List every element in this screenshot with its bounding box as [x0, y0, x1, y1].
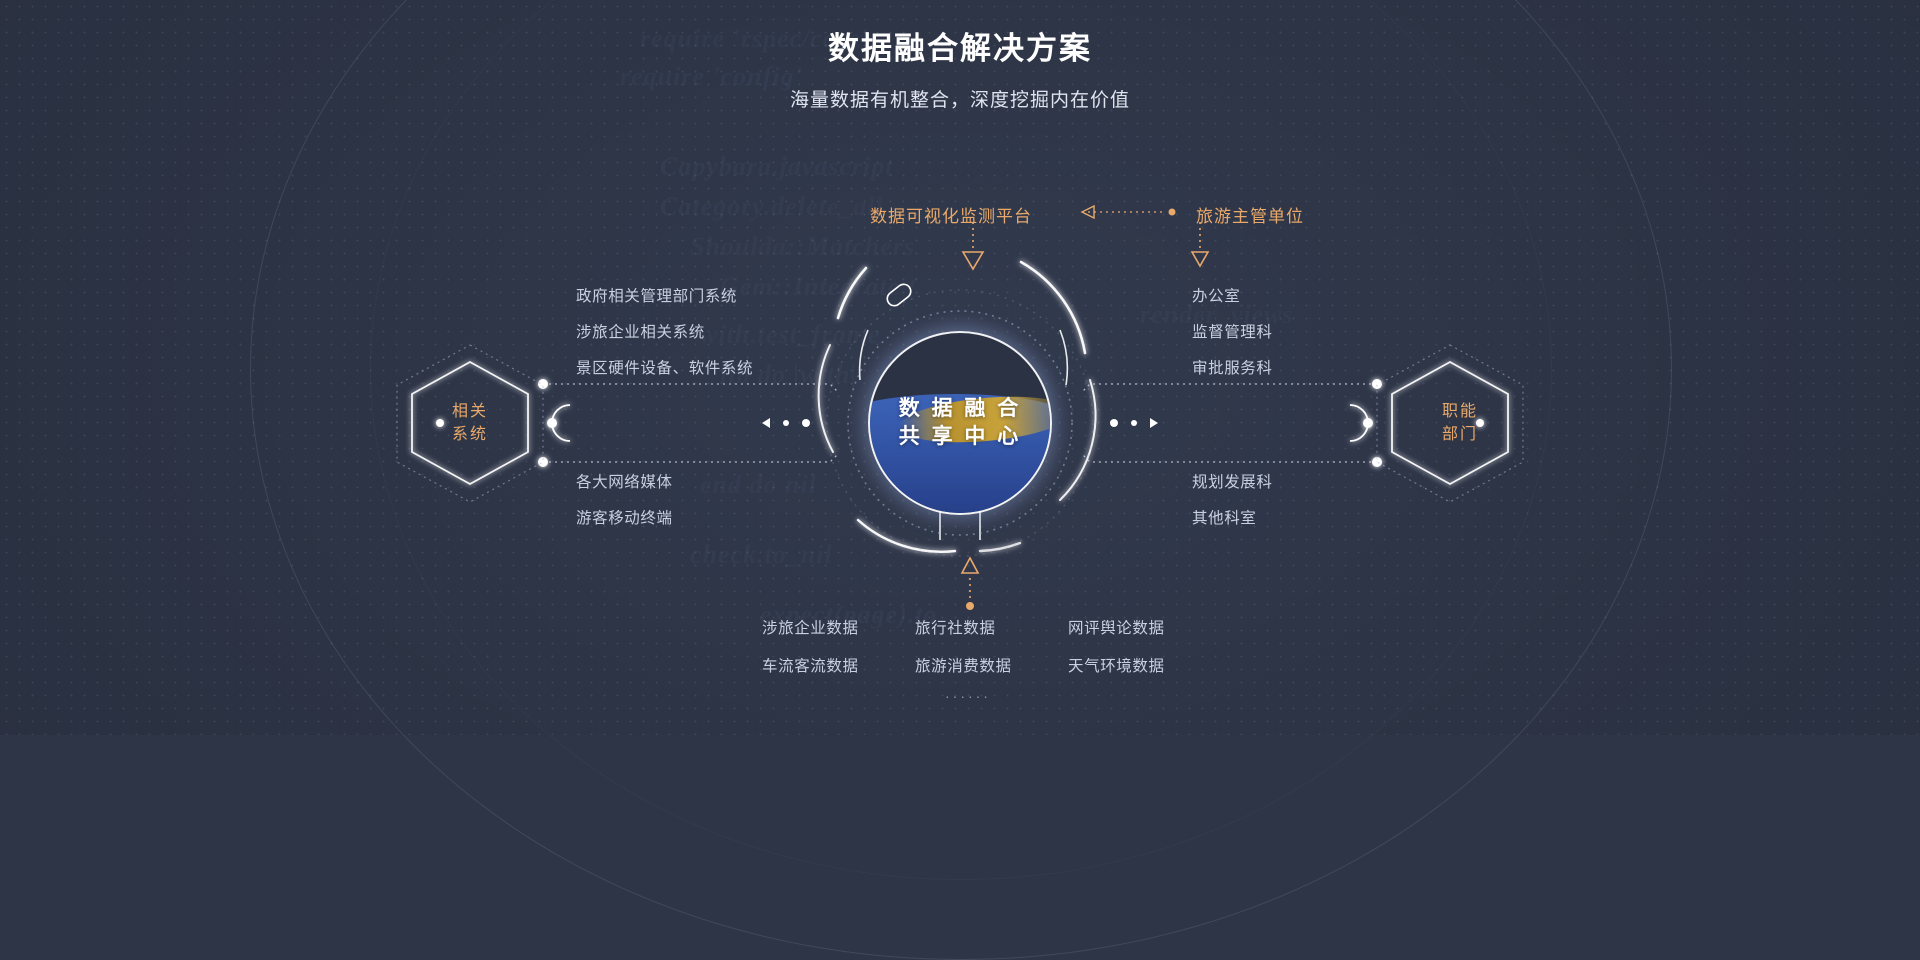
label-visualization-platform[interactable]: 数据可视化监测平台: [870, 202, 1032, 227]
page-header: 数据融合解决方案 海量数据有机整合，深度挖掘内在价值: [0, 30, 1920, 112]
hexagon-left-line1: 相关: [452, 400, 488, 423]
label-left-lower-1: 游客移动终端: [576, 506, 673, 528]
label-left-lower-0: 各大网络媒体: [576, 470, 673, 492]
hub-text: 数 据 融 合 共 享 中 心: [870, 333, 1050, 513]
hexagon-right-line2: 部门: [1442, 423, 1478, 446]
ring-capsule-marker: [884, 281, 913, 308]
label-right-upper-0: 办公室: [1192, 284, 1240, 306]
label-bottom-r2-2: 天气环境数据: [1068, 654, 1165, 676]
label-left-upper-2: 景区硬件设备、软件系统: [576, 356, 753, 378]
label-bottom-r2-1: 旅游消费数据: [915, 654, 1012, 676]
hexagon-left-label: 相关 系统: [410, 362, 530, 484]
center-hub[interactable]: 数 据 融 合 共 享 中 心: [870, 333, 1050, 513]
hexagon-right-label-wrap[interactable]: 职能 部门: [1400, 362, 1520, 484]
top-arrow-platform: [963, 222, 983, 269]
hexagon-right-label: 职能 部门: [1400, 362, 1520, 484]
top-link-arrow: [1082, 206, 1176, 218]
label-right-lower-1: 其他科室: [1192, 506, 1256, 528]
hexagon-right-line1: 职能: [1442, 400, 1478, 423]
hub-title-line1: 数 据 融 合: [899, 395, 1022, 423]
top-arrow-authority: [1192, 222, 1208, 266]
label-bottom-r1-1: 旅行社数据: [915, 616, 996, 638]
page-subtitle: 海量数据有机整合，深度挖掘内在价值: [0, 85, 1920, 112]
page-title: 数据融合解决方案: [0, 30, 1920, 67]
label-right-lower-0: 规划发展科: [1192, 470, 1273, 492]
hexagon-left-line2: 系统: [452, 423, 488, 446]
label-right-upper-1: 监督管理科: [1192, 320, 1273, 342]
hub-title-line2: 共 享 中 心: [899, 423, 1022, 451]
label-left-upper-0: 政府相关管理部门系统: [576, 284, 737, 306]
label-bottom-r1-2: 网评舆论数据: [1068, 616, 1165, 638]
hexagon-left-label-wrap[interactable]: 相关 系统: [410, 362, 530, 484]
label-bottom-r2-0: 车流客流数据: [762, 654, 859, 676]
label-right-upper-2: 审批服务科: [1192, 356, 1273, 378]
label-left-upper-1: 涉旅企业相关系统: [576, 320, 705, 342]
label-bottom-more: ······: [945, 688, 991, 704]
label-tourism-authority[interactable]: 旅游主管单位: [1196, 202, 1304, 227]
bottom-arrow: [962, 558, 978, 610]
label-bottom-r1-0: 涉旅企业数据: [762, 616, 859, 638]
